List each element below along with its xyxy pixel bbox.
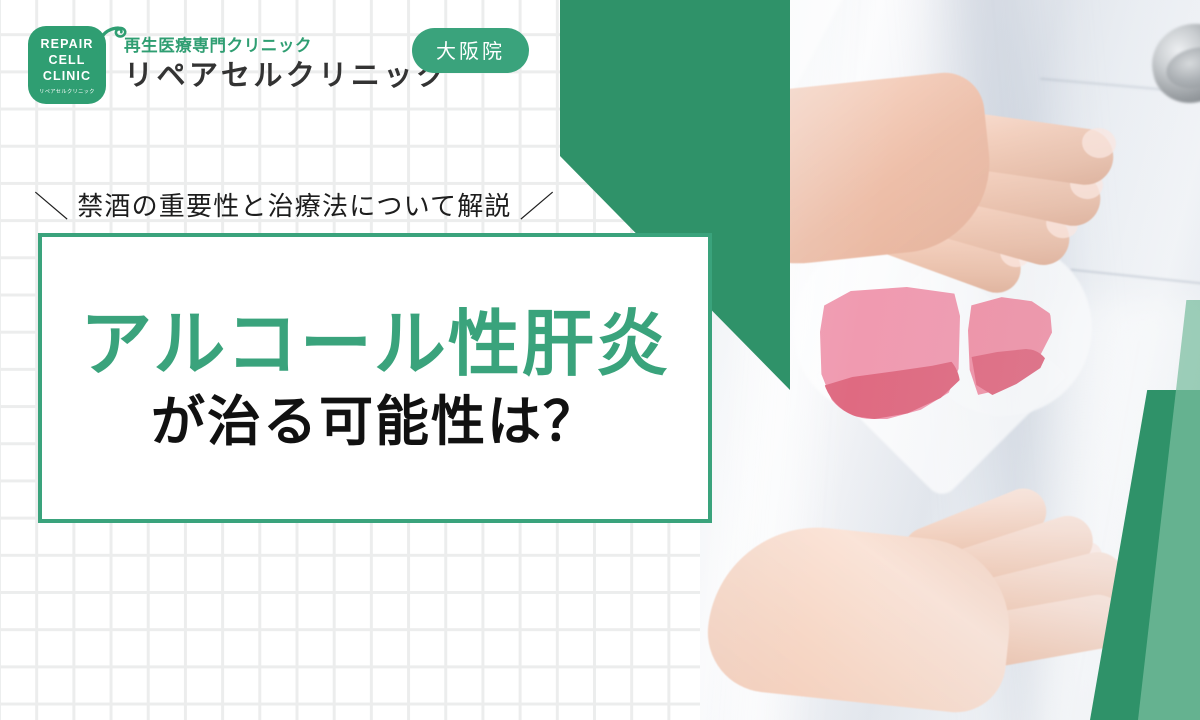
clinic-banner: REPAIR CELL CLINIC リペアセルクリニック 再生医療専門クリニッ…: [0, 0, 1200, 720]
page-title: アルコール性肝炎: [80, 306, 670, 382]
logo-line-1: REPAIR: [41, 37, 94, 52]
sprout-curl-icon: [94, 23, 128, 57]
liver-icon: [820, 287, 1052, 419]
tagline-text: 禁酒の重要性と治療法について解説: [77, 186, 511, 223]
branch-badge[interactable]: 大阪院: [412, 28, 529, 73]
clinic-type-label: 再生医療専門クリニック: [124, 37, 448, 55]
tagline: ＼ 禁酒の重要性と治療法について解説 ／: [36, 182, 553, 226]
logo-line-3: CLINIC: [43, 69, 91, 84]
tagline-right-mark: ／: [518, 182, 557, 226]
hand-bottom: [710, 478, 1140, 708]
clinic-name-block: 再生医療専門クリニック リペアセルクリニック: [124, 37, 448, 94]
page-subtitle: が治る可能性は？: [151, 393, 599, 450]
clinic-header: REPAIR CELL CLINIC リペアセルクリニック 再生医療専門クリニッ…: [28, 26, 448, 104]
logo-subtext: リペアセルクリニック: [39, 88, 95, 95]
clinic-logo[interactable]: REPAIR CELL CLINIC リペアセルクリニック: [28, 26, 106, 104]
clinic-name-label: リペアセルクリニック: [124, 58, 448, 93]
title-box: アルコール性肝炎 が治る可能性は？: [38, 233, 712, 523]
logo-line-2: CELL: [48, 53, 85, 68]
tagline-left-mark: ＼: [32, 182, 71, 226]
